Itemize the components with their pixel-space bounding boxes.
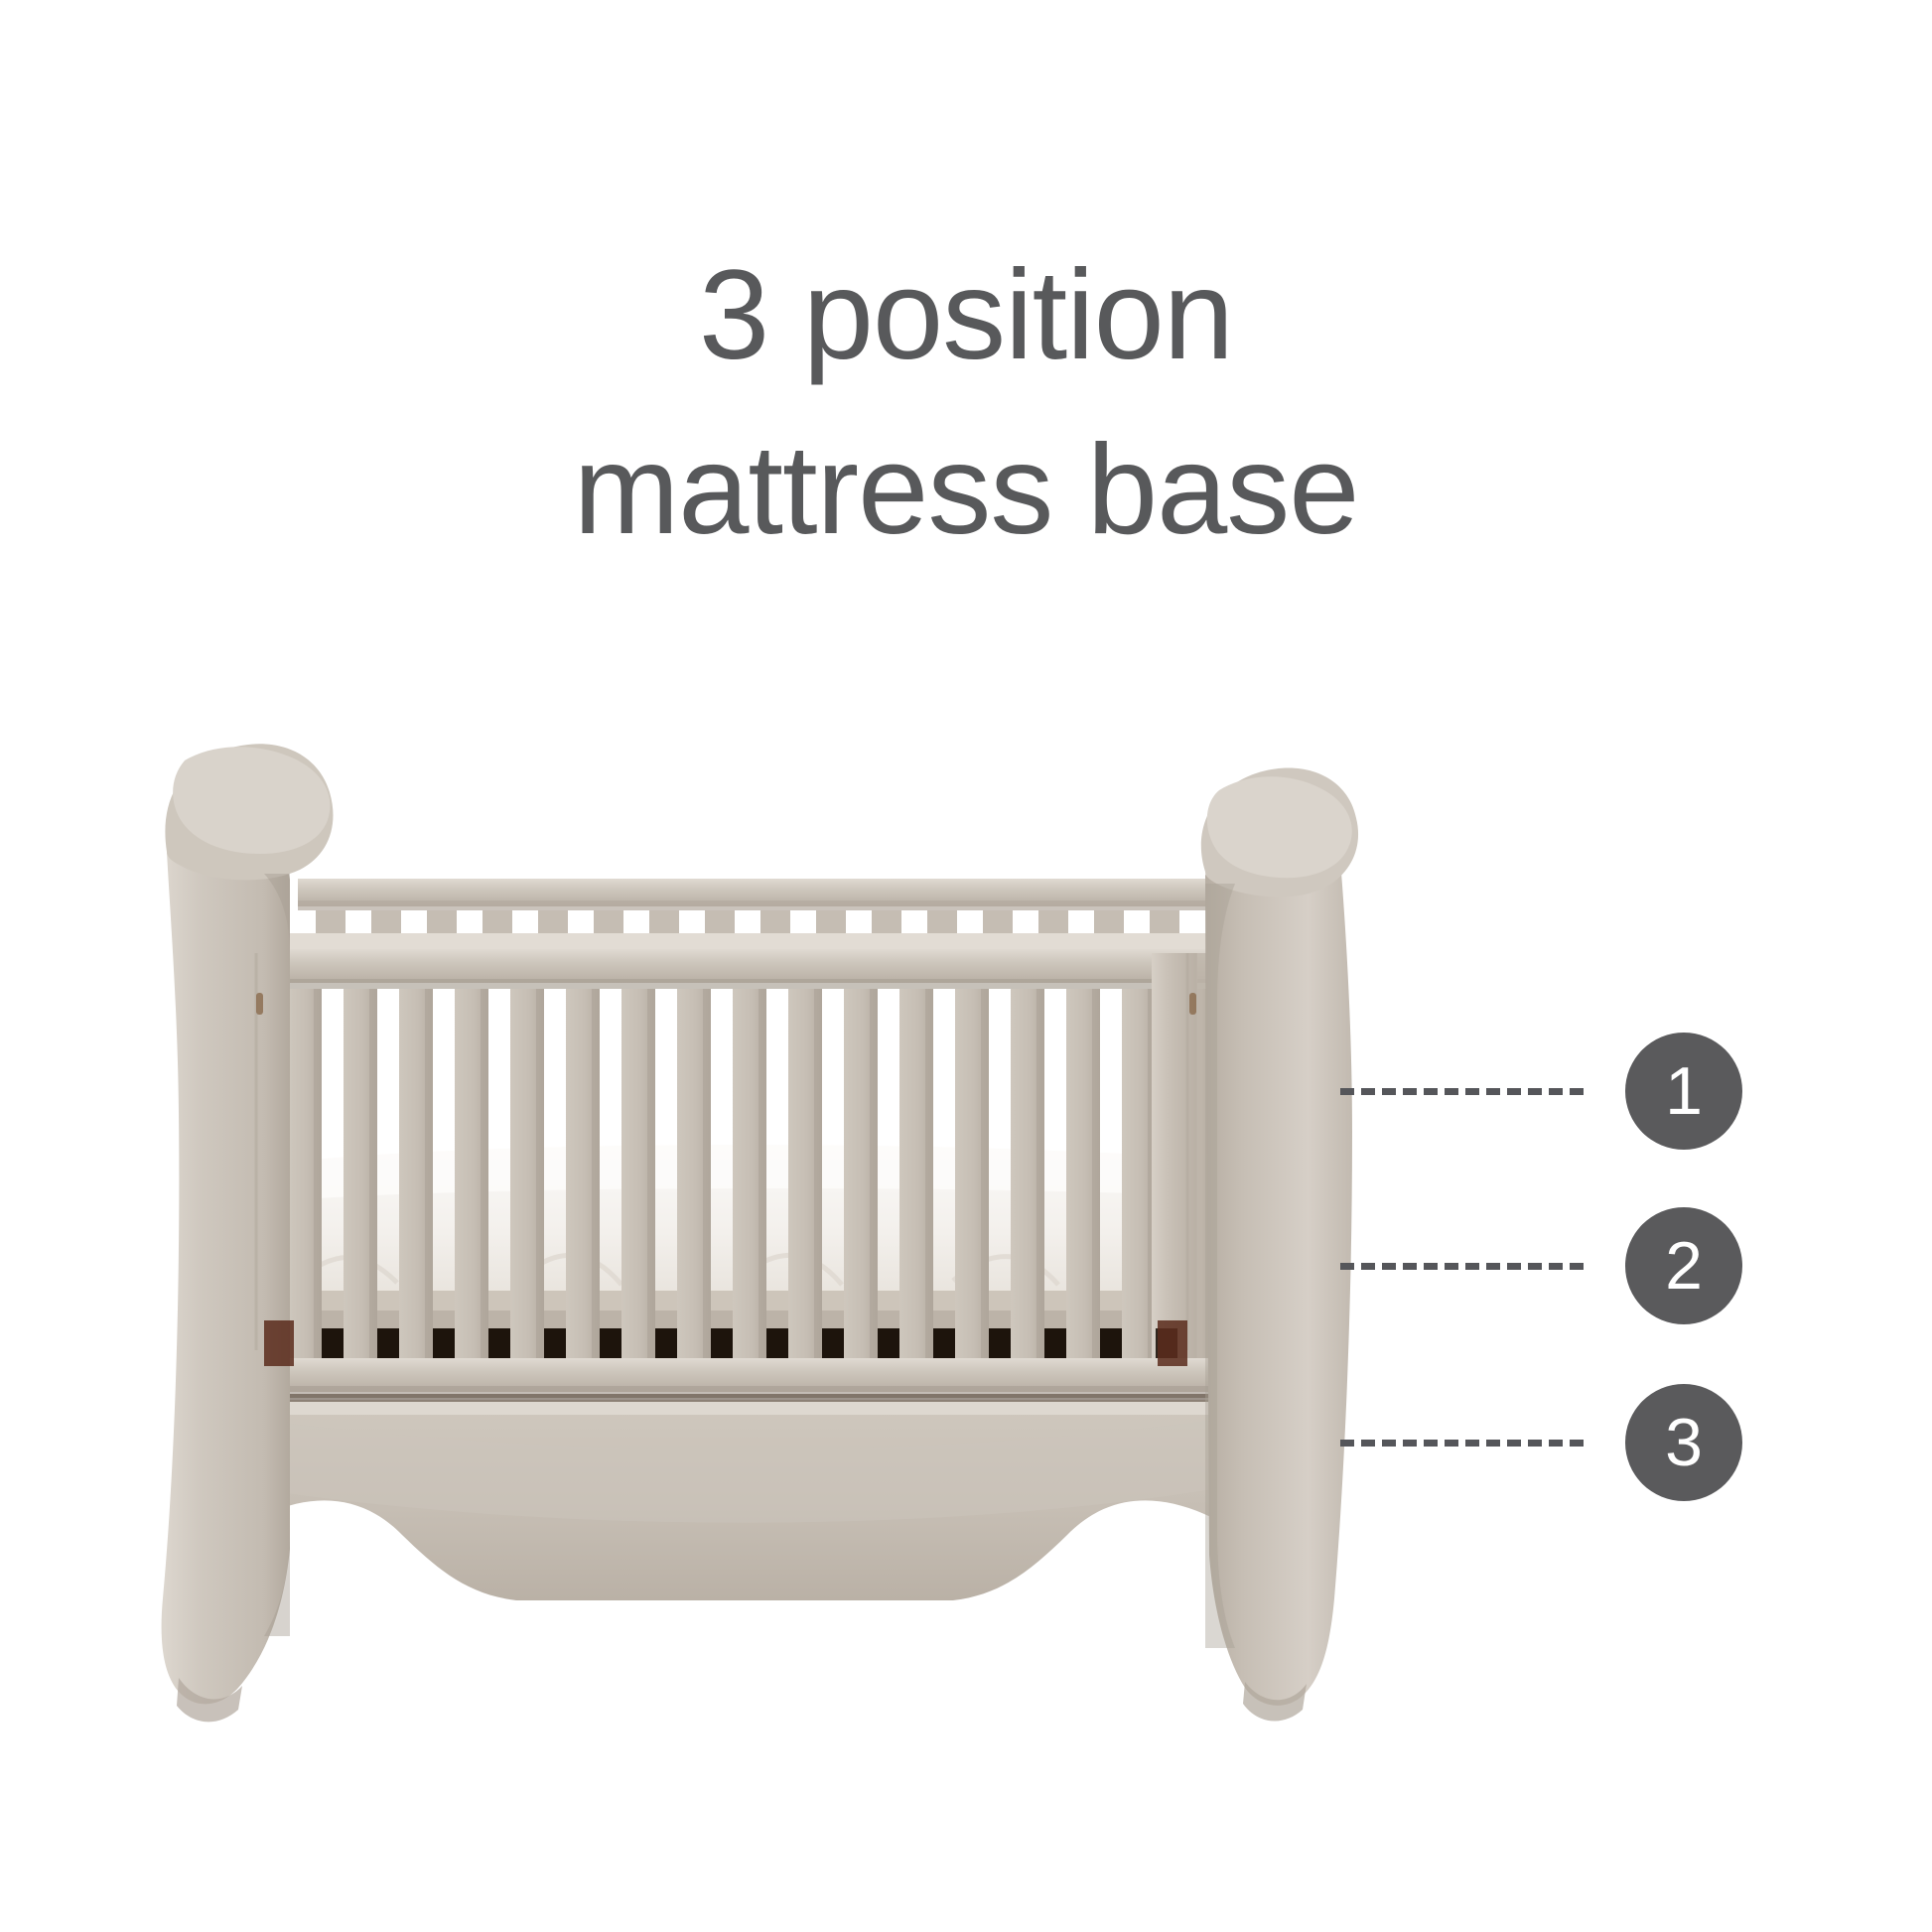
callout-dashed-line (1340, 1440, 1584, 1447)
cot-base-panel (230, 1394, 1241, 1600)
callout-position-3[interactable]: 3 (1340, 1383, 1742, 1502)
product-feature-graphic: 3 position mattress base (0, 0, 1932, 1932)
callout-dashed-line (1340, 1088, 1584, 1095)
right-inner-post (1152, 953, 1197, 1360)
callout-position-1[interactable]: 1 (1340, 1032, 1742, 1151)
badge-position-2[interactable]: 2 (1625, 1207, 1742, 1324)
right-sleigh-end-panel (1201, 768, 1358, 1722)
cot-back-rail-group (298, 879, 1211, 938)
cot-bed-illustration (0, 0, 1932, 1932)
badge-position-3[interactable]: 3 (1625, 1384, 1742, 1501)
cot-lower-rail (238, 1358, 1231, 1398)
callout-position-2[interactable]: 2 (1340, 1206, 1742, 1325)
badge-position-1[interactable]: 1 (1625, 1033, 1742, 1150)
callout-dashed-line (1340, 1263, 1584, 1270)
hardware-marks (256, 993, 1196, 1015)
cot-front-top-rail (230, 933, 1303, 989)
